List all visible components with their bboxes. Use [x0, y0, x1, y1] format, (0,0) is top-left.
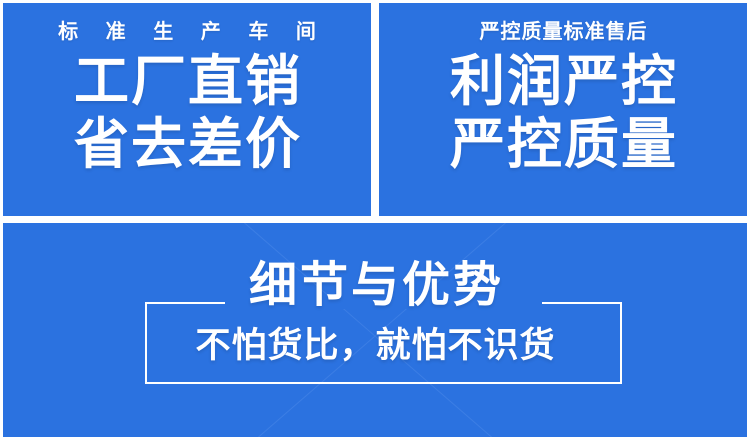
- left-panel-eyebrow: 标 准 生 产 车 间: [47, 22, 327, 42]
- right-panel-headline-line2: 严控质量: [448, 112, 678, 177]
- panel-factory-direct-content: 标 准 生 产 车 间 工厂直销 省去差价: [3, 3, 371, 216]
- panel-details-and-advantages: 细节与优势 不怕货比，就怕不识货: [3, 223, 747, 437]
- right-panel-headline-line1: 利润严控: [448, 49, 678, 114]
- panel-factory-direct: 标 准 生 产 车 间 工厂直销 省去差价: [3, 3, 371, 216]
- right-panel-eyebrow: 严控质量标准售后: [479, 22, 648, 42]
- promo-banner: 标 准 生 产 车 间 工厂直销 省去差价 严控质量标准售后 利润严控 严控质量…: [0, 0, 750, 440]
- panel-quality-control: 严控质量标准售后 利润严控 严控质量: [379, 3, 747, 216]
- panel-quality-control-content: 严控质量标准售后 利润严控 严控质量: [379, 3, 747, 216]
- bottom-panel-title: 细节与优势: [3, 262, 747, 310]
- left-panel-headline-line2: 省去差价: [72, 112, 302, 177]
- bottom-panel-subtitle: 不怕货比，就怕不识货: [3, 328, 747, 363]
- left-panel-headline-line1: 工厂直销: [72, 49, 302, 114]
